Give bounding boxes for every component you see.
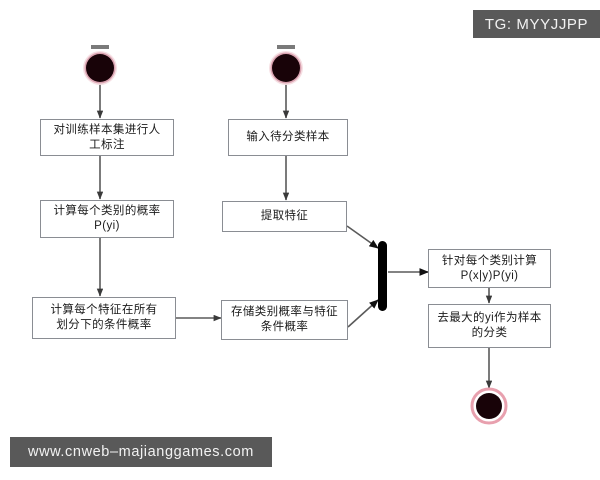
join-bar: [378, 241, 387, 311]
end-node: [472, 389, 507, 424]
watermark-url-badge: www.cnweb–majianggames.com: [10, 437, 272, 467]
start-node-left: [83, 51, 117, 85]
start-node-right-dash: [277, 45, 295, 49]
start-node-left-dash: [91, 45, 109, 49]
edge-b6-to-join: [348, 300, 378, 327]
activity-box-extract-feature[interactable]: 提取特征: [222, 201, 347, 232]
diagram-canvas: 对训练样本集进行人 工标注 输入待分类样本 计算每个类别的概率 P(yi) 提取…: [0, 0, 600, 480]
activity-box-conditional-probability[interactable]: 计算每个特征在所有 划分下的条件概率: [32, 297, 176, 339]
activity-box-label-training-set[interactable]: 对训练样本集进行人 工标注: [40, 119, 174, 156]
connector-layer: [0, 0, 600, 480]
activity-box-store-probabilities[interactable]: 存储类别概率与特征 条件概率: [221, 300, 348, 340]
start-node-right: [269, 51, 303, 85]
activity-box-class-probability[interactable]: 计算每个类别的概率 P(yi): [40, 200, 174, 238]
watermark-tg-badge: TG: MYYJJPP: [473, 10, 600, 38]
activity-box-select-max-class[interactable]: 去最大的yi作为样本 的分类: [428, 304, 551, 348]
edge-b4-to-join: [347, 226, 378, 248]
activity-box-compute-per-class[interactable]: 针对每个类别计算 P(x|y)P(yi): [428, 249, 551, 288]
activity-box-input-sample[interactable]: 输入待分类样本: [228, 119, 348, 156]
